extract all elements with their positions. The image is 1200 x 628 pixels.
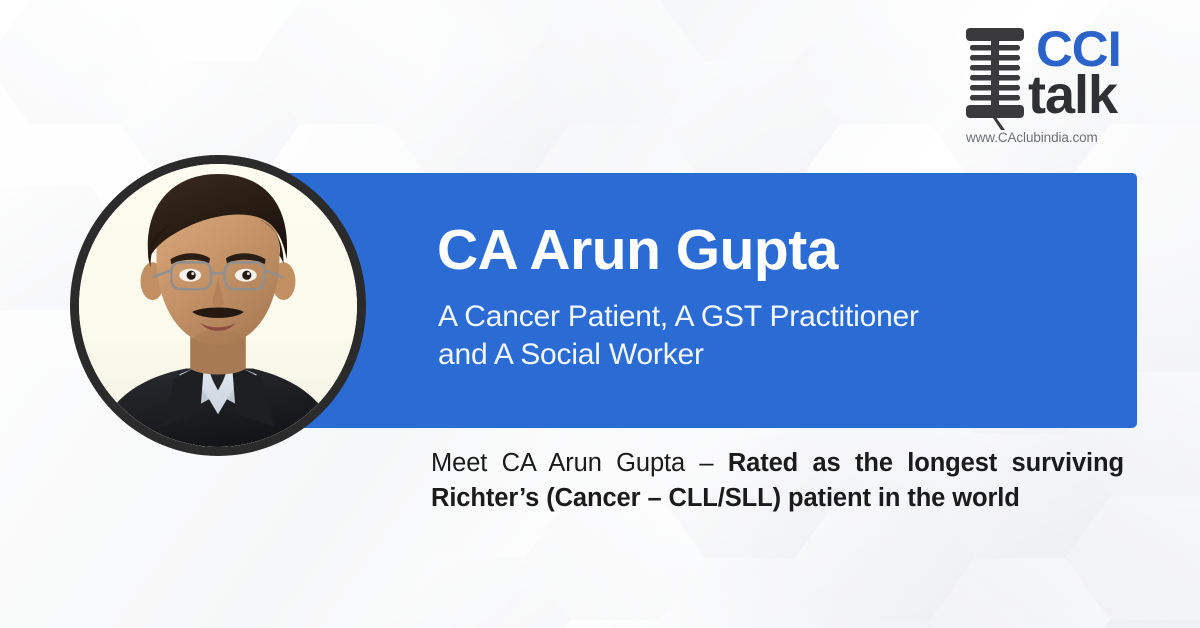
portrait-illustration: [79, 164, 357, 447]
page-subtitle: A Cancer Patient, A GST Practitioner and…: [438, 298, 1078, 374]
promo-banner-canvas: CA Arun Gupta A Cancer Patient, A GST Pr…: [0, 0, 1200, 628]
avatar: [70, 155, 366, 456]
description-text: Meet CA Arun Gupta – Rated as the longes…: [431, 446, 1124, 516]
logo-brand-secondary: talk: [1028, 68, 1117, 122]
avatar-photo: [79, 164, 357, 447]
page-title: CA Arun Gupta: [437, 220, 838, 280]
page-subtitle-line-1: A Cancer Patient, A GST Practitioner: [438, 298, 1078, 336]
page-subtitle-line-2: and A Social Worker: [438, 336, 1078, 374]
description-lead: Meet CA Arun Gupta –: [431, 449, 728, 477]
logo-website-url[interactable]: www.CAclubindia.com: [966, 130, 1098, 145]
cci-talk-logo[interactable]: CCI talk www.CAclubindia.com: [958, 22, 1148, 158]
retro-microphone-icon: [960, 26, 1032, 130]
